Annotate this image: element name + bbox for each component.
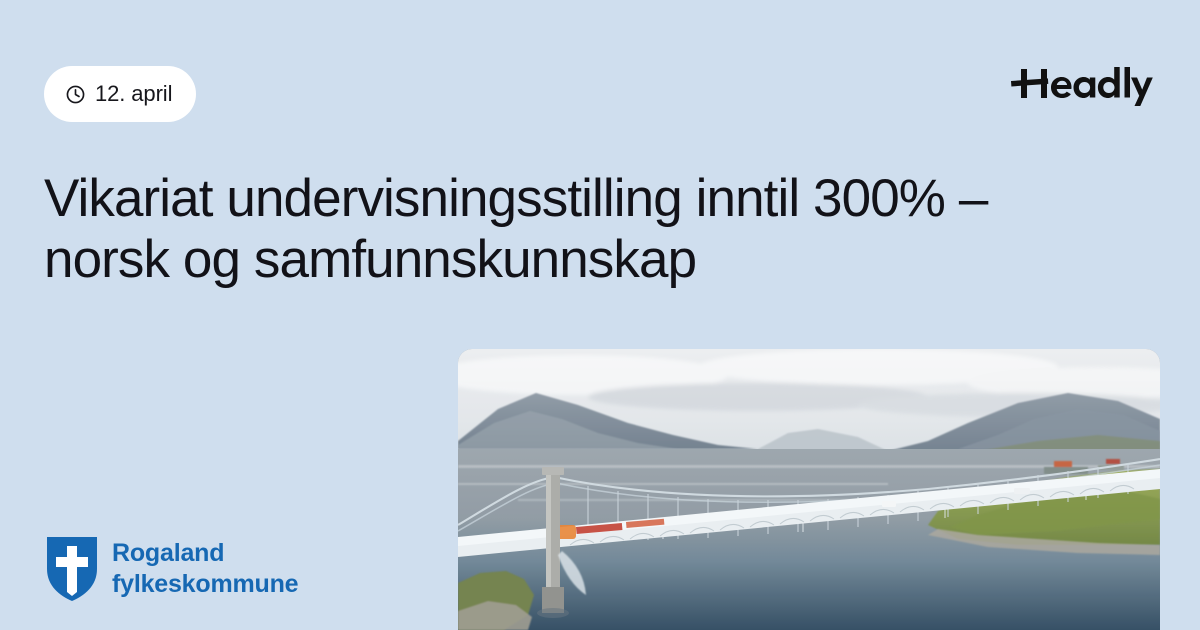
shield-with-cross-icon	[46, 536, 98, 602]
og-image-canvas: 12. april Vikariat undervisning	[0, 0, 1200, 630]
date-label: 12. april	[95, 83, 172, 106]
date-badge: 12. april	[44, 66, 196, 122]
page-title: Vikariat undervisningsstilling inntil 30…	[44, 168, 1054, 291]
headly-logo[interactable]	[1010, 62, 1160, 106]
organization-logo: Rogaland fylkeskommune	[46, 536, 298, 602]
article-photo	[458, 349, 1160, 630]
organization-name: Rogaland fylkeskommune	[112, 538, 298, 600]
clock-icon	[65, 84, 86, 105]
